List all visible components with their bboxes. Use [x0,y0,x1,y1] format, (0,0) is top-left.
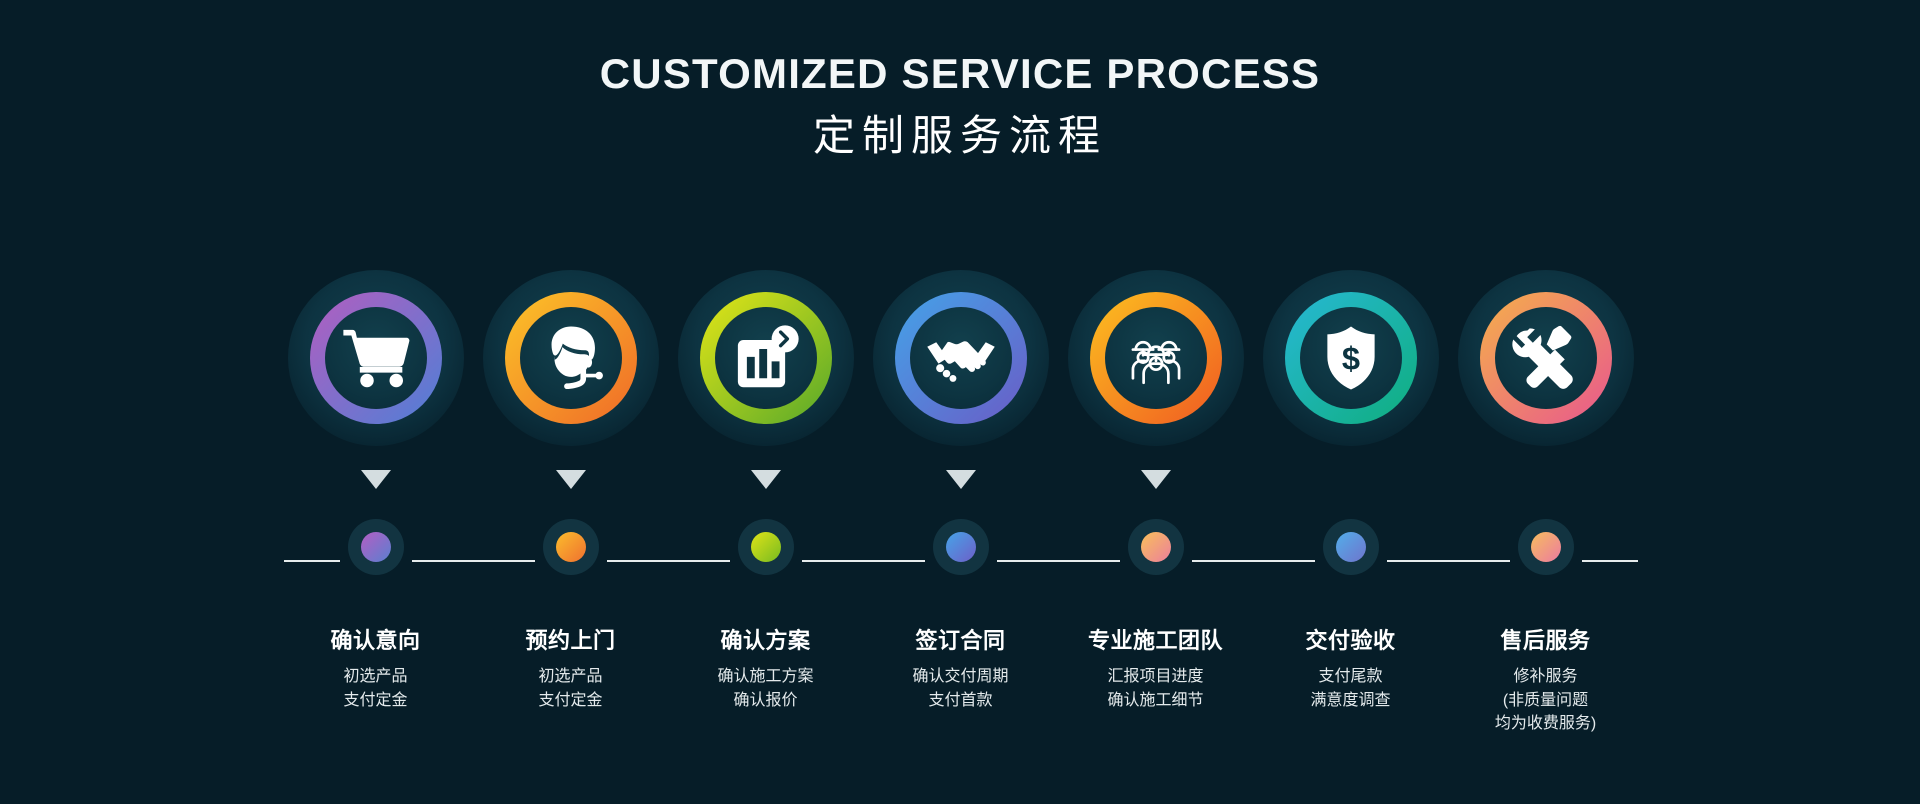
step-ring-hole-4 [910,307,1012,409]
step-gradient-ring-3 [700,292,832,424]
step-label-1: 确认意向初选产品支付定金 [278,628,473,712]
step-label-4: 签订合同确认交付周期支付首款 [863,628,1058,712]
step-title-4: 签订合同 [863,628,1058,654]
step-down-arrow-4 [946,470,976,489]
step-description-7: 修补服务(非质量问题均为收费服务) [1448,665,1643,735]
step-description-line: 确认施工方案 [668,665,863,688]
step-title-2: 预约上门 [473,628,668,654]
step-description-3: 确认施工方案确认报价 [668,665,863,711]
step-gradient-ring-7 [1480,292,1612,424]
timeline-dot-1 [361,532,391,562]
step-down-arrow-5 [1141,470,1171,489]
step-description-line: 确认施工细节 [1058,689,1253,712]
step-title-6: 交付验收 [1253,628,1448,654]
step-description-line: 确认报价 [668,689,863,712]
step-title-3: 确认方案 [668,628,863,654]
step-description-line: 支付首款 [863,689,1058,712]
step-gradient-ring-6 [1285,292,1417,424]
step-gradient-ring-1 [310,292,442,424]
timeline-dot-ring-7[interactable] [1518,519,1574,575]
step-label-5: 专业施工团队汇报项目进度确认施工细节 [1058,628,1253,712]
step-description-6: 支付尾款满意度调查 [1253,665,1448,711]
step-description-4: 确认交付周期支付首款 [863,665,1058,711]
process-step-7[interactable] [1448,270,1643,575]
process-step-4[interactable] [863,270,1058,575]
timeline-dot-ring-5[interactable] [1128,519,1184,575]
step-gradient-ring-4 [895,292,1027,424]
step-ring-hole-1 [325,307,427,409]
step-description-1: 初选产品支付定金 [278,665,473,711]
step-label-3: 确认方案确认施工方案确认报价 [668,628,863,712]
step-description-line: (非质量问题 [1448,689,1643,712]
step-title-7: 售后服务 [1448,628,1643,654]
header: CUSTOMIZED SERVICE PROCESS 定制服务流程 [0,52,1920,159]
step-ring-hole-2 [520,307,622,409]
step-gradient-ring-5 [1090,292,1222,424]
process-step-2[interactable] [473,270,668,575]
timeline-dot-ring-2[interactable] [543,519,599,575]
step-medallion-2[interactable] [483,270,659,446]
step-down-arrow-2 [556,470,586,489]
step-description-line: 确认交付周期 [863,665,1058,688]
step-description-line: 支付定金 [278,689,473,712]
step-title-1: 确认意向 [278,628,473,654]
step-medallion-3[interactable] [678,270,854,446]
step-label-2: 预约上门初选产品支付定金 [473,628,668,712]
step-description-line: 初选产品 [278,665,473,688]
timeline-dot-6 [1336,532,1366,562]
timeline-dot-ring-4[interactable] [933,519,989,575]
step-title-5: 专业施工团队 [1058,628,1253,654]
step-ring-hole-3 [715,307,817,409]
step-label-7: 售后服务修补服务(非质量问题均为收费服务) [1448,628,1643,735]
step-down-arrow-1 [361,470,391,489]
process-step-5[interactable] [1058,270,1253,575]
process-step-6[interactable]: $ [1253,270,1448,575]
step-medallion-4[interactable] [873,270,1049,446]
step-label-6: 交付验收支付尾款满意度调查 [1253,628,1448,712]
process-labels-row: 确认意向初选产品支付定金预约上门初选产品支付定金确认方案确认施工方案确认报价签订… [278,628,1643,798]
timeline-dot-7 [1531,532,1561,562]
timeline-dot-ring-6[interactable] [1323,519,1379,575]
step-medallion-5[interactable] [1068,270,1244,446]
step-description-2: 初选产品支付定金 [473,665,668,711]
step-description-line: 支付尾款 [1253,665,1448,688]
step-medallion-1[interactable] [288,270,464,446]
page-title-chinese: 定制服务流程 [0,113,1920,159]
process-step-3[interactable] [668,270,863,575]
timeline-dot-ring-3[interactable] [738,519,794,575]
step-description-5: 汇报项目进度确认施工细节 [1058,665,1253,711]
timeline-dot-5 [1141,532,1171,562]
step-medallion-6[interactable]: $ [1263,270,1439,446]
timeline-dot-ring-1[interactable] [348,519,404,575]
step-down-arrow-3 [751,470,781,489]
process-step-1[interactable] [278,270,473,575]
step-gradient-ring-2 [505,292,637,424]
timeline-dot-3 [751,532,781,562]
step-description-line: 支付定金 [473,689,668,712]
timeline-dot-4 [946,532,976,562]
step-description-line: 初选产品 [473,665,668,688]
step-description-line: 均为收费服务) [1448,712,1643,735]
step-medallion-7[interactable] [1458,270,1634,446]
step-ring-hole-6 [1300,307,1402,409]
step-ring-hole-5 [1105,307,1207,409]
step-description-line: 汇报项目进度 [1058,665,1253,688]
step-description-line: 满意度调查 [1253,689,1448,712]
step-ring-hole-7 [1495,307,1597,409]
customized-service-process-infographic: CUSTOMIZED SERVICE PROCESS 定制服务流程 $ 确认意向… [0,0,1920,804]
timeline-dot-2 [556,532,586,562]
step-description-line: 修补服务 [1448,665,1643,688]
page-title-english: CUSTOMIZED SERVICE PROCESS [0,52,1920,96]
